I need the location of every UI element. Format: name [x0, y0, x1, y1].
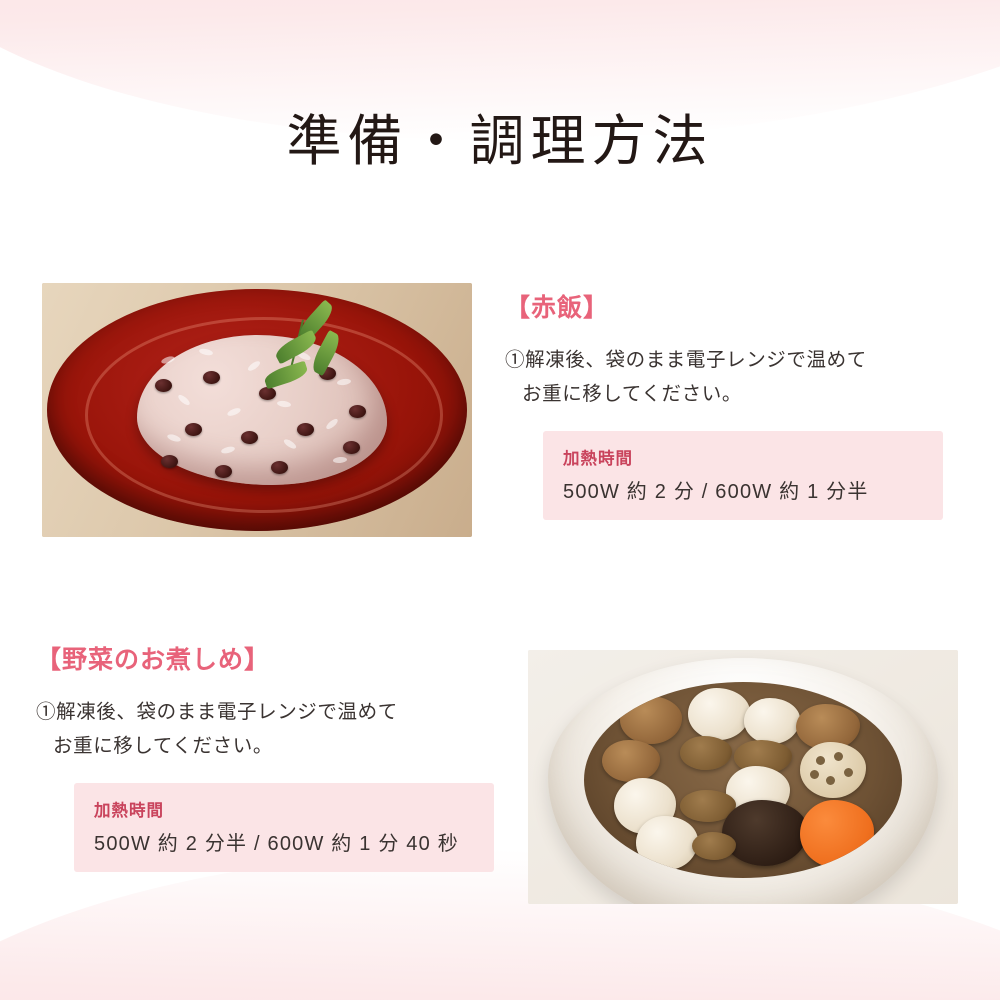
- chicken-piece: [620, 696, 682, 744]
- sekihan-instructions: 【赤飯】 ①解凍後、袋のまま電子レンジで温めて お重に移してください。 加熱時間…: [505, 288, 965, 520]
- heating-time-value: 500W 約 2 分 / 600W 約 1 分半: [563, 475, 923, 504]
- heading-bracket-close: 】: [244, 646, 270, 674]
- taro-piece: [744, 698, 800, 744]
- nimono-heating-time-box: 加熱時間 500W 約 2 分半 / 600W 約 1 分 40 秒: [74, 783, 494, 872]
- heating-time-value: 500W 約 2 分半 / 600W 約 1 分 40 秒: [94, 827, 474, 856]
- heating-time-label: 加熱時間: [94, 797, 474, 821]
- nimono-heading: 【野菜のお煮しめ】: [36, 640, 506, 676]
- nimono-instructions: 【野菜のお煮しめ】 ①解凍後、袋のまま電子レンジで温めて お重に移してください。…: [36, 640, 506, 872]
- page-content: 準備・調理方法: [0, 0, 1000, 1000]
- burdock-piece: [680, 736, 732, 770]
- sekihan-photo: [42, 283, 472, 537]
- taro-piece: [636, 816, 698, 870]
- bowl-interior: [584, 682, 902, 878]
- burdock-piece: [692, 832, 736, 860]
- heading-bracket-close: 】: [583, 294, 609, 322]
- nimono-steps: ①解凍後、袋のまま電子レンジで温めて お重に移してください。: [36, 696, 506, 763]
- lotus-root-piece: [800, 742, 866, 798]
- nimono-step-line-2: お重に移してください。: [36, 730, 506, 764]
- page-title: 準備・調理方法: [0, 96, 1000, 176]
- heading-label: 野菜のお煮しめ: [62, 646, 244, 674]
- chicken-piece: [602, 740, 660, 782]
- sekihan-heading: 【赤飯】: [505, 288, 965, 324]
- sekihan-heating-time-box: 加熱時間 500W 約 2 分 / 600W 約 1 分半: [543, 431, 943, 520]
- taro-piece: [688, 688, 750, 740]
- nimono-photo: [528, 650, 958, 904]
- nimono-step-line-1: ①解凍後、袋のまま電子レンジで温めて: [36, 696, 506, 730]
- sekihan-step-line-2: お重に移してください。: [505, 378, 965, 412]
- heating-time-label: 加熱時間: [563, 445, 923, 469]
- sekihan-steps: ①解凍後、袋のまま電子レンジで温めて お重に移してください。: [505, 344, 965, 411]
- shiitake-piece: [722, 800, 808, 866]
- sekihan-step-line-1: ①解凍後、袋のまま電子レンジで温めて: [505, 344, 965, 378]
- heading-label: 赤飯: [531, 294, 583, 322]
- heading-bracket-open: 【: [505, 294, 531, 322]
- heading-bracket-open: 【: [36, 646, 62, 674]
